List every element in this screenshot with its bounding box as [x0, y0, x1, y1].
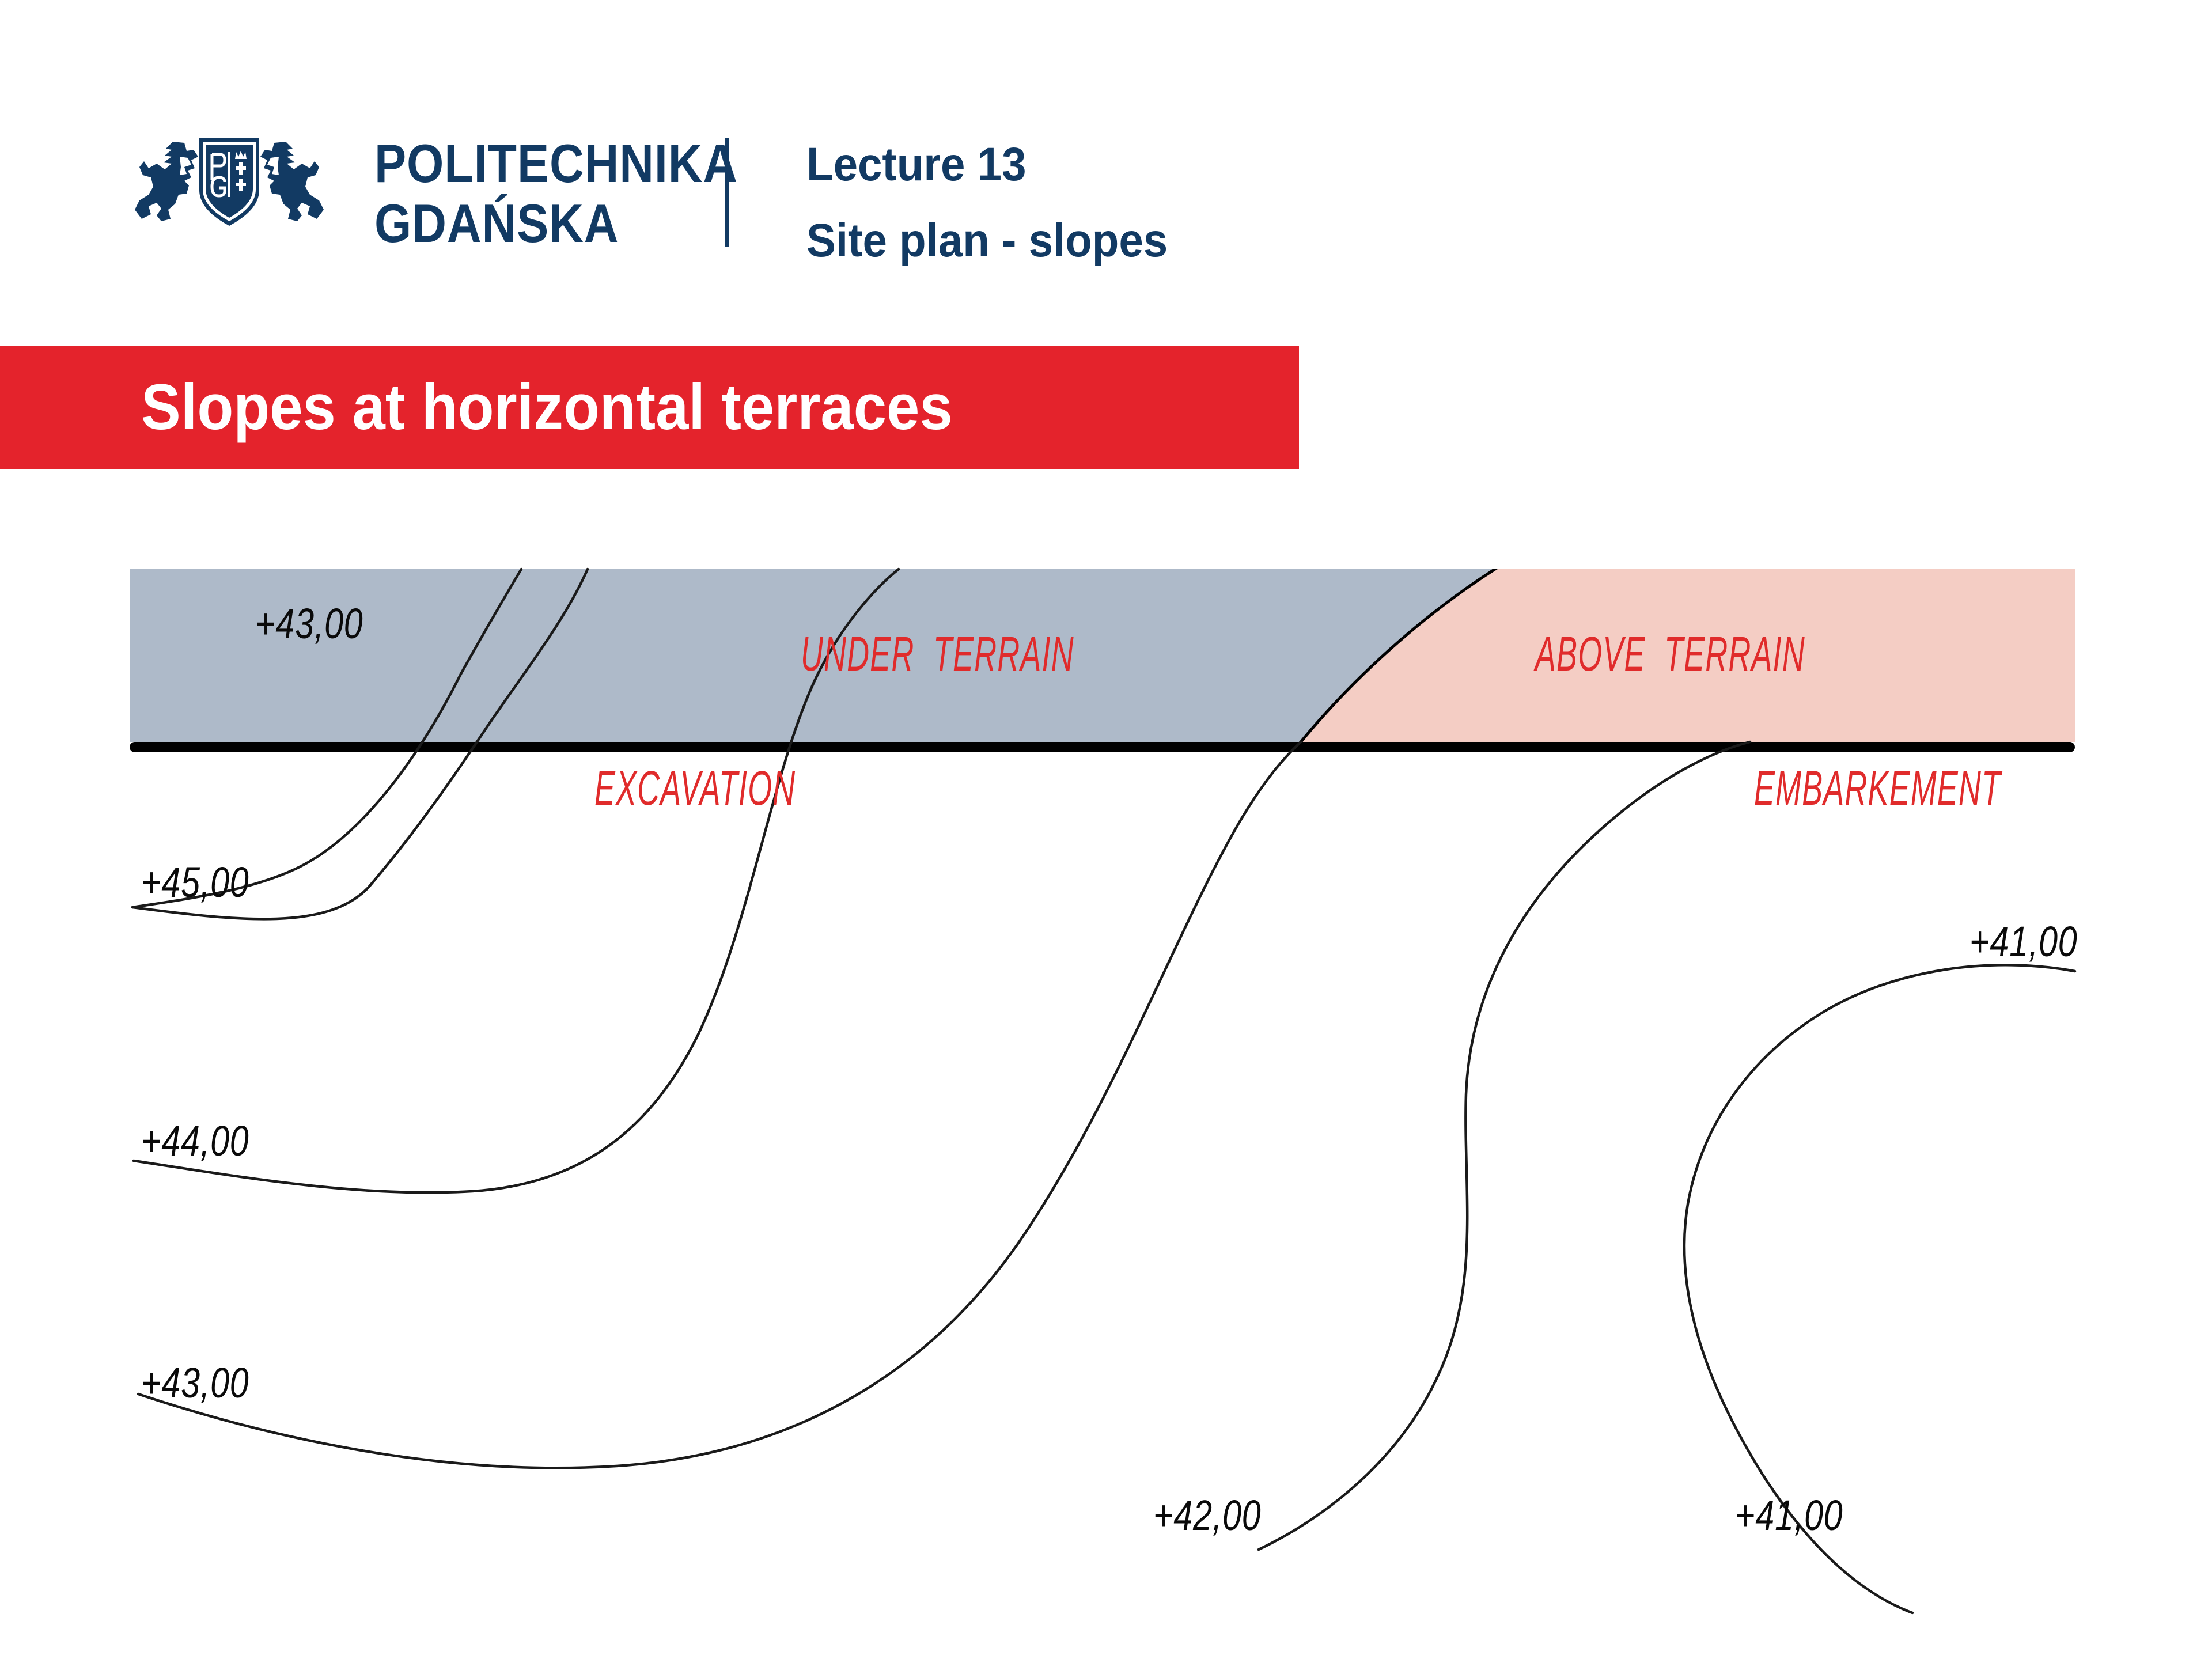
elevation-label-43: +43,00: [141, 1358, 249, 1407]
elevation-label-terrace: +43,00: [255, 599, 363, 648]
zone-label-under-terrain: UNDER TERRAIN: [801, 626, 1074, 682]
zone-label-embarkement: EMBARKEMENT: [1754, 760, 2001, 816]
contour-line-42: [1259, 742, 1750, 1550]
elevation-label-44: +44,00: [141, 1116, 249, 1165]
elevation-label-42: +42,00: [1153, 1491, 1262, 1540]
elevation-label-41-bottom: +41,00: [1735, 1491, 1843, 1540]
zone-label-above-terrain: ABOVE TERRAIN: [1535, 626, 1805, 682]
elevation-label-41-right: +41,00: [1969, 917, 2078, 966]
zone-label-excavation: EXCAVATION: [594, 760, 796, 816]
contour-line-43-lower: [138, 742, 1301, 1468]
elevation-label-45: +45,00: [141, 858, 249, 907]
site-plan-diagram: [0, 0, 2212, 1659]
